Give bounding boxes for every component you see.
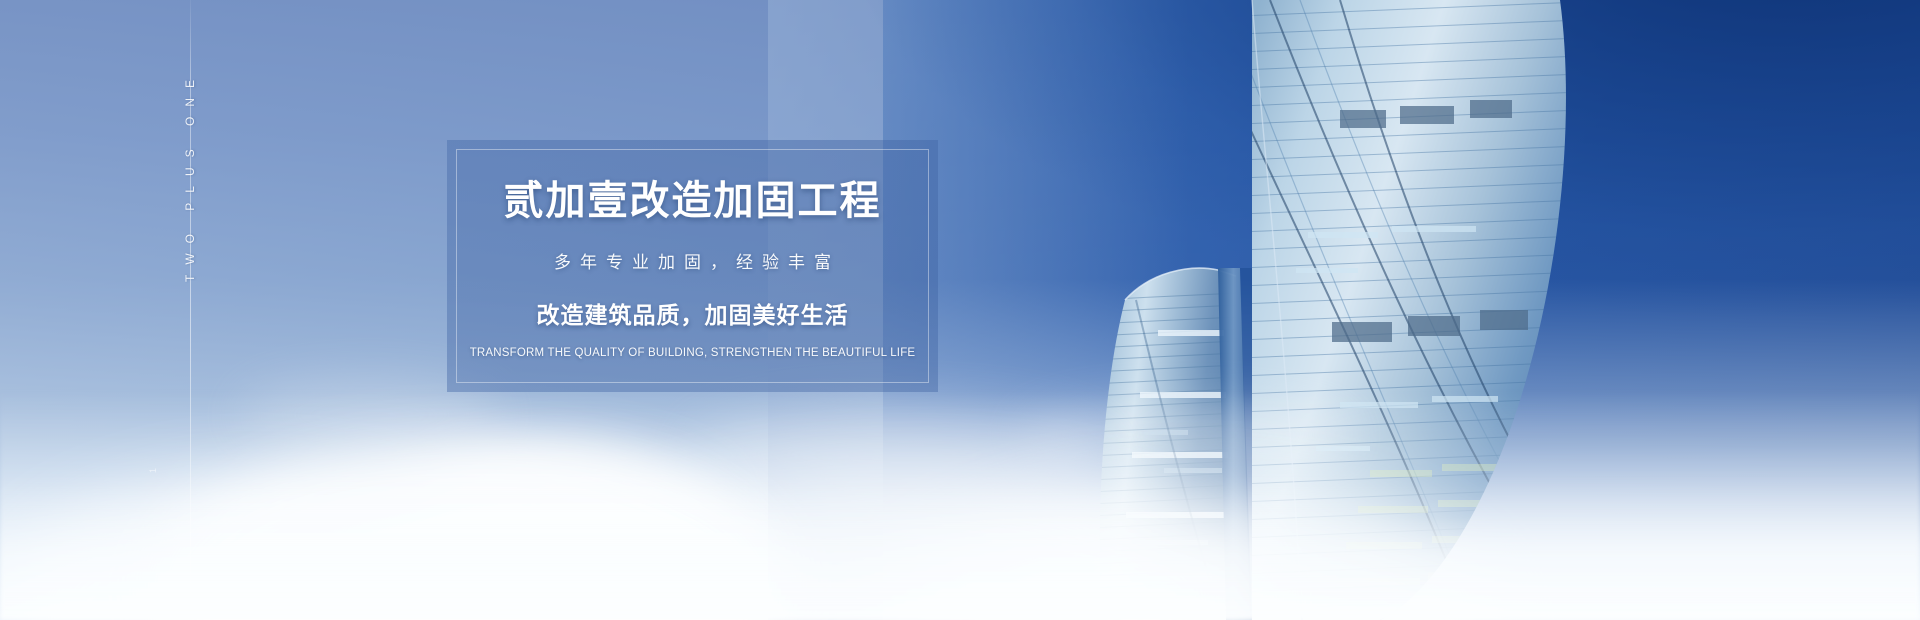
banner-english-caption: TRANSFORM THE QUALITY OF BUILDING, STREN…	[470, 347, 916, 359]
hero-text-panel: 贰加壹改造加固工程 多年专业加固，经验丰富 改造建筑品质，加固美好生活 TRAN…	[447, 140, 938, 392]
vertical-small-mark: 1	[148, 466, 158, 473]
cloud-haze-band	[0, 390, 1920, 620]
banner-tagline: 改造建筑品质，加固美好生活	[537, 296, 849, 330]
hero-banner: TWO PLUS ONE 1 贰加壹改造加固工程 多年专业加固，经验丰富 改造建…	[0, 0, 1920, 620]
panel-content: 贰加壹改造加固工程 多年专业加固，经验丰富 改造建筑品质，加固美好生活 TRAN…	[447, 140, 938, 392]
banner-subtitle: 多年专业加固，经验丰富	[545, 248, 840, 273]
banner-title: 贰加壹改造加固工程	[504, 180, 882, 222]
vertical-brand-text: TWO PLUS ONE	[183, 70, 197, 282]
